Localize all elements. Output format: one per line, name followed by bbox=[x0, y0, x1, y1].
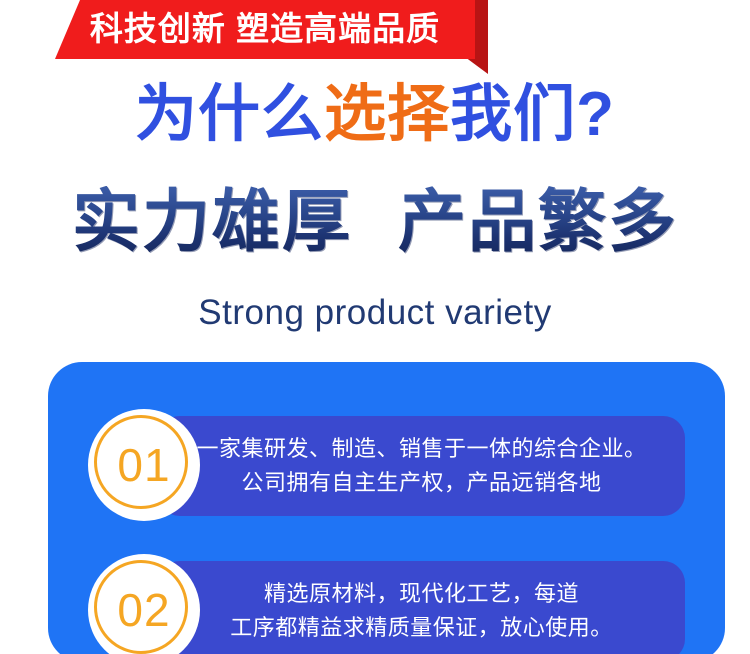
feature-line-2: 工序都精益求精质量保证，放心使用。 bbox=[230, 611, 613, 645]
page-title: 为什么选择我们? bbox=[0, 82, 750, 147]
feature-line-1: 精选原材料，现代化工艺，每道 bbox=[264, 577, 579, 611]
feature-text-box: 一家集研发、制造、销售于一体的综合企业。 公司拥有自主生产权，产品远销各地 bbox=[158, 416, 685, 516]
subtitle-english: Strong product variety bbox=[0, 293, 750, 333]
subtitle-right: 产品繁多 bbox=[398, 184, 678, 260]
feature-item: 02 精选原材料，现代化工艺，每道 工序都精益求精质量保证，放心使用。 bbox=[48, 554, 725, 654]
feature-text-box: 精选原材料，现代化工艺，每道 工序都精益求精质量保证，放心使用。 bbox=[158, 561, 685, 654]
feature-line-2: 公司拥有自主生产权，产品远销各地 bbox=[241, 466, 601, 500]
subtitle-left: 实力雄厚 bbox=[72, 184, 352, 260]
feature-number-badge: 01 bbox=[88, 409, 200, 521]
ribbon-label: 科技创新 塑造高端品质 bbox=[90, 12, 440, 45]
feature-number: 01 bbox=[117, 442, 170, 488]
headline-part-3: 我们? bbox=[450, 80, 615, 149]
headline-part-1: 为什么 bbox=[135, 80, 324, 149]
subtitle-chinese: 实力雄厚产品繁多 bbox=[0, 186, 750, 259]
feature-line-1: 一家集研发、制造、销售于一体的综合企业。 bbox=[196, 432, 646, 466]
ribbon-body: 科技创新 塑造高端品质 bbox=[55, 0, 475, 59]
headline-part-2: 选择 bbox=[324, 80, 450, 149]
ribbon-banner: 科技创新 塑造高端品质 bbox=[0, 0, 750, 80]
feature-number: 02 bbox=[117, 587, 170, 633]
feature-number-badge: 02 bbox=[88, 554, 200, 654]
feature-panel: 01 一家集研发、制造、销售于一体的综合企业。 公司拥有自主生产权，产品远销各地… bbox=[48, 362, 725, 654]
feature-item: 01 一家集研发、制造、销售于一体的综合企业。 公司拥有自主生产权，产品远销各地 bbox=[48, 409, 725, 525]
promo-page: 科技创新 塑造高端品质 为什么选择我们? 实力雄厚产品繁多 Strong pro… bbox=[0, 0, 750, 654]
